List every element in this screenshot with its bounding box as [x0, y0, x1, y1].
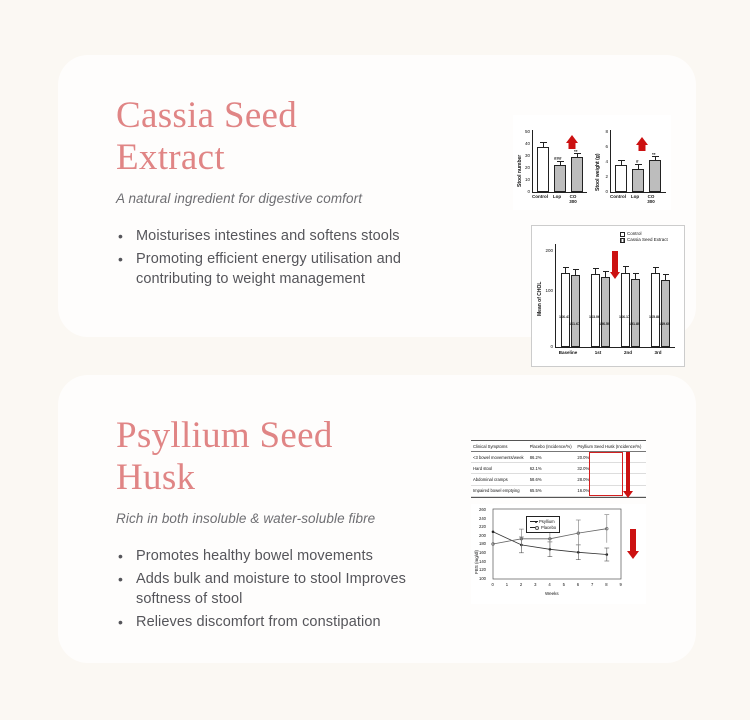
cell-placebo: 86.2% [528, 452, 576, 463]
x-tick-label: CO 300 [641, 194, 661, 204]
red-down-arrow-icon [627, 529, 639, 559]
cassia-text-block: Cassia Seed Extract A natural ingredient… [116, 95, 461, 292]
page-title-cassia: Cassia Seed Extract [116, 95, 461, 179]
bar-value-label: 151.80 [629, 322, 640, 326]
y-tick: 20 [521, 165, 530, 170]
x-tick: 3 [534, 582, 536, 587]
x-tick: 9 [620, 582, 622, 587]
chart-legend: Control Cassia Seed Extract [620, 231, 668, 243]
y-tick: 6 [600, 144, 608, 149]
y-tick: 100 [541, 288, 553, 293]
y-tick: 10 [521, 177, 530, 182]
cell-symptom: Hard stool [471, 463, 528, 474]
table-clinical-symptoms: Clinical Symptoms Placebo (Incidence/%) … [471, 440, 646, 498]
red-down-arrow-icon [623, 452, 633, 498]
list-item: Promotes healthy bowel movements [136, 546, 461, 566]
bar-co300 [571, 157, 583, 192]
significance-marker: # [636, 159, 639, 164]
x-tick-label: Baseline [555, 350, 581, 355]
bar-control [621, 273, 630, 347]
highlight-box-psyllium-column [589, 452, 623, 496]
y-tick: 0 [541, 344, 553, 349]
x-tick: 1 [506, 582, 508, 587]
column-header: Psyllium Seed Husk (Incidence/%) [575, 441, 646, 452]
x-tick-label: 2nd [617, 350, 639, 355]
x-tick: 6 [577, 582, 579, 587]
bar-control [651, 273, 660, 347]
chart-stool-number: Stool number 50 40 30 20 10 0 ### [513, 115, 591, 210]
x-tick-label: CO 300 [563, 194, 583, 204]
list-item: Relieves discomfort from constipation [136, 612, 461, 632]
bar-value-label: 161.67 [569, 322, 580, 326]
bar-value-label: 149.60 [659, 322, 670, 326]
significance-marker: ** [574, 149, 578, 154]
bar-value-label: 165.88 [649, 315, 660, 319]
significance-marker: ### [554, 156, 562, 161]
y-tick: 200 [541, 248, 553, 253]
page-title-psyllium: Psyllium Seed Husk [116, 415, 461, 499]
x-tick: 5 [563, 582, 565, 587]
legend-entry: Placebo [530, 525, 556, 531]
bar-control [591, 274, 600, 347]
chart-fbs-weeks: FBS (mg/dl) 260 240 220 200 180 160 140 … [471, 504, 646, 604]
bar-co300 [649, 160, 661, 192]
chart-ylabel: Mean of CHOL [537, 282, 543, 316]
chart-mean-chol: Mean of CHOL Control Cassia Seed Extract… [531, 225, 685, 367]
table-header-row: Clinical Symptoms Placebo (Incidence/%) … [471, 441, 646, 452]
bullet-list-cassia: Moisturises intestines and softens stool… [116, 226, 461, 289]
chart-ylabel: Stool number [517, 155, 523, 187]
bar-cassia [661, 280, 670, 347]
legend-swatch [620, 232, 625, 237]
x-tick: 7 [591, 582, 593, 587]
column-header: Clinical Symptoms [471, 441, 528, 452]
red-up-arrow-icon [565, 135, 579, 149]
bar-value-label: 166.17 [619, 315, 630, 319]
x-tick-label: 3rd [647, 350, 669, 355]
figure-group-psyllium: Clinical Symptoms Placebo (Incidence/%) … [463, 430, 663, 600]
chart-stool-weight: Stool weight (g) 8 6 4 2 0 # [591, 115, 671, 210]
cell-symptom: Impaired bowel emptying [471, 485, 528, 496]
subtitle-cassia: A natural ingredient for digestive comfo… [116, 191, 461, 206]
legend-swatch [620, 238, 625, 243]
y-tick: 4 [600, 159, 608, 164]
slide-canvas: Cassia Seed Extract A natural ingredient… [0, 0, 750, 720]
list-item: Moisturises intestines and softens stool… [136, 226, 461, 246]
y-tick: 40 [521, 141, 530, 146]
bar-control [537, 147, 549, 192]
red-up-arrow-icon [635, 137, 649, 151]
card-psyllium-seed-husk: Psyllium Seed Husk Rich in both insolubl… [58, 375, 696, 663]
cell-symptom: <3 bowel movements/week [471, 452, 528, 463]
x-tick: 0 [492, 582, 494, 587]
list-item: Adds bulk and moisture to stool Improves… [136, 569, 461, 609]
y-tick: 8 [600, 129, 608, 134]
list-item: Promoting efficient energy utilisation a… [136, 249, 461, 289]
card-cassia-seed-extract: Cassia Seed Extract A natural ingredient… [58, 55, 696, 337]
x-tick-label: 1st [587, 350, 609, 355]
bar-control [615, 165, 627, 192]
x-tick: 4 [548, 582, 550, 587]
cell-placebo: 58.6% [528, 474, 576, 485]
psyllium-text-block: Psyllium Seed Husk Rich in both insolubl… [116, 415, 461, 635]
figure-group-cassia: Stool number 50 40 30 20 10 0 ### [463, 70, 673, 325]
column-header: Placebo (Incidence/%) [528, 441, 576, 452]
bar-control [561, 273, 570, 348]
bar-lop [632, 169, 644, 192]
y-tick: 50 [521, 129, 530, 134]
subtitle-psyllium: Rich in both insoluble & water-soluble f… [116, 511, 461, 526]
chart-legend: Psyllium Placebo [526, 516, 560, 533]
bar-cassia [631, 279, 640, 347]
x-tick: 2 [520, 582, 522, 587]
bar-lop [554, 165, 566, 192]
legend-entry: Cassia Seed Extract [620, 237, 668, 243]
chart-xlabel: Weeks [545, 591, 559, 596]
bar-value-label: 156.50 [599, 322, 610, 326]
y-tick: 30 [521, 153, 530, 158]
cell-symptom: Abdominal cramps [471, 474, 528, 485]
bar-value-label: 163.06 [589, 315, 600, 319]
significance-marker: ** [652, 152, 656, 157]
bar-cassia [571, 275, 580, 347]
bar-cassia [601, 277, 610, 347]
cell-placebo: 65.5% [528, 485, 576, 496]
bar-value-label: 166.41 [559, 315, 570, 319]
y-tick: 2 [600, 174, 608, 179]
red-down-arrow-icon [609, 251, 621, 279]
x-tick: 8 [605, 582, 607, 587]
cell-placebo: 62.1% [528, 463, 576, 474]
bullet-list-psyllium: Promotes healthy bowel movements Adds bu… [116, 546, 461, 632]
